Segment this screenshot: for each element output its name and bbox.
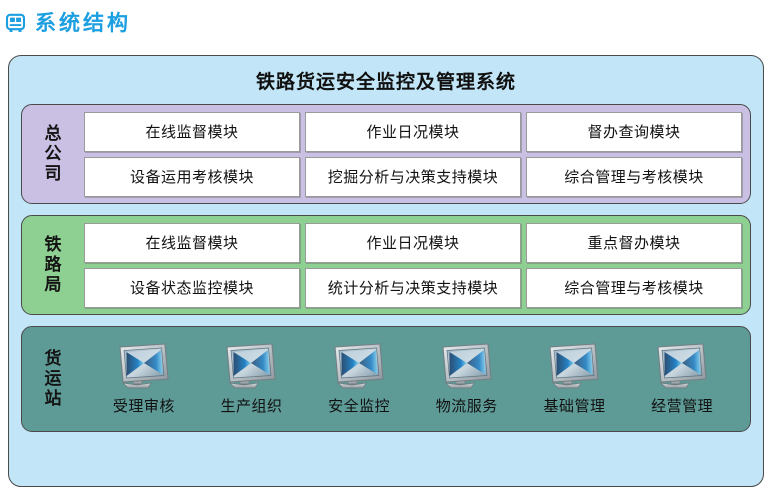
level-label-char: 站	[45, 389, 62, 409]
module-box[interactable]: 作业日况模块	[305, 112, 521, 152]
level-label-char: 路	[45, 255, 62, 275]
level-label-char: 公	[45, 144, 62, 164]
level-label-char: 总	[45, 124, 62, 144]
station-item-label: 生产组织	[220, 395, 282, 416]
module-row: 设备状态监控模块 统计分析与决策支持模块 综合管理与考核模块	[84, 268, 742, 308]
level-panel-corp: 总 公 司 在线监督模块 作业日况模块 督办查询模块 设备运用考核模块 挖掘分析…	[21, 104, 751, 204]
module-box[interactable]: 综合管理与考核模块	[526, 268, 742, 308]
level-label-char: 运	[45, 369, 62, 389]
monitor-icon	[332, 343, 386, 393]
level-label-char: 司	[45, 164, 62, 184]
station-item-label: 受理审核	[113, 395, 175, 416]
system-title: 铁路货运安全监控及管理系统	[21, 56, 751, 104]
module-box[interactable]: 综合管理与考核模块	[526, 157, 742, 197]
train-icon	[5, 13, 26, 34]
station-item-label: 基础管理	[543, 395, 605, 416]
station-grid: 受理审核 生产组织	[84, 331, 742, 427]
station-item[interactable]: 物流服务	[415, 343, 519, 416]
level-panel-station: 货 运 站	[21, 326, 751, 432]
station-item[interactable]: 基础管理	[522, 343, 626, 416]
station-item[interactable]: 受理审核	[92, 343, 196, 416]
monitor-icon	[655, 343, 709, 393]
level-label-station: 货 运 站	[22, 331, 84, 427]
level-label-char: 局	[45, 275, 62, 295]
monitor-icon	[547, 343, 601, 393]
level-label-corp: 总 公 司	[22, 111, 84, 197]
station-item-label: 经营管理	[651, 395, 713, 416]
module-box[interactable]: 督办查询模块	[526, 112, 742, 152]
page-title: 系统结构	[35, 13, 131, 34]
station-item-label: 安全监控	[328, 395, 390, 416]
module-grid-corp: 在线监督模块 作业日况模块 督办查询模块 设备运用考核模块 挖掘分析与决策支持模…	[84, 111, 742, 197]
module-box[interactable]: 作业日况模块	[305, 223, 521, 263]
level-label-bureau: 铁 路 局	[22, 222, 84, 308]
level-label-char: 铁	[45, 235, 62, 255]
module-box[interactable]: 设备运用考核模块	[84, 157, 300, 197]
station-item-label: 物流服务	[436, 395, 498, 416]
station-item[interactable]: 经营管理	[630, 343, 734, 416]
system-architecture-diagram: 铁路货运安全监控及管理系统 总 公 司 在线监督模块 作业日况模块 督办查询模块…	[8, 55, 764, 487]
module-box[interactable]: 重点督办模块	[526, 223, 742, 263]
module-row: 在线监督模块 作业日况模块 重点督办模块	[84, 223, 742, 263]
station-item[interactable]: 生产组织	[199, 343, 303, 416]
module-box[interactable]: 在线监督模块	[84, 112, 300, 152]
module-row: 设备运用考核模块 挖掘分析与决策支持模块 综合管理与考核模块	[84, 157, 742, 197]
station-item[interactable]: 安全监控	[307, 343, 411, 416]
monitor-icon	[117, 343, 171, 393]
level-label-char: 货	[45, 349, 62, 369]
module-box[interactable]: 挖掘分析与决策支持模块	[305, 157, 521, 197]
module-grid-bureau: 在线监督模块 作业日况模块 重点督办模块 设备状态监控模块 统计分析与决策支持模…	[84, 222, 742, 308]
level-panel-bureau: 铁 路 局 在线监督模块 作业日况模块 重点督办模块 设备状态监控模块 统计分析…	[21, 215, 751, 315]
page-header: 系统结构	[0, 0, 131, 46]
monitor-icon	[224, 343, 278, 393]
module-row: 在线监督模块 作业日况模块 督办查询模块	[84, 112, 742, 152]
module-box[interactable]: 设备状态监控模块	[84, 268, 300, 308]
module-box[interactable]: 在线监督模块	[84, 223, 300, 263]
module-box[interactable]: 统计分析与决策支持模块	[305, 268, 521, 308]
monitor-icon	[440, 343, 494, 393]
